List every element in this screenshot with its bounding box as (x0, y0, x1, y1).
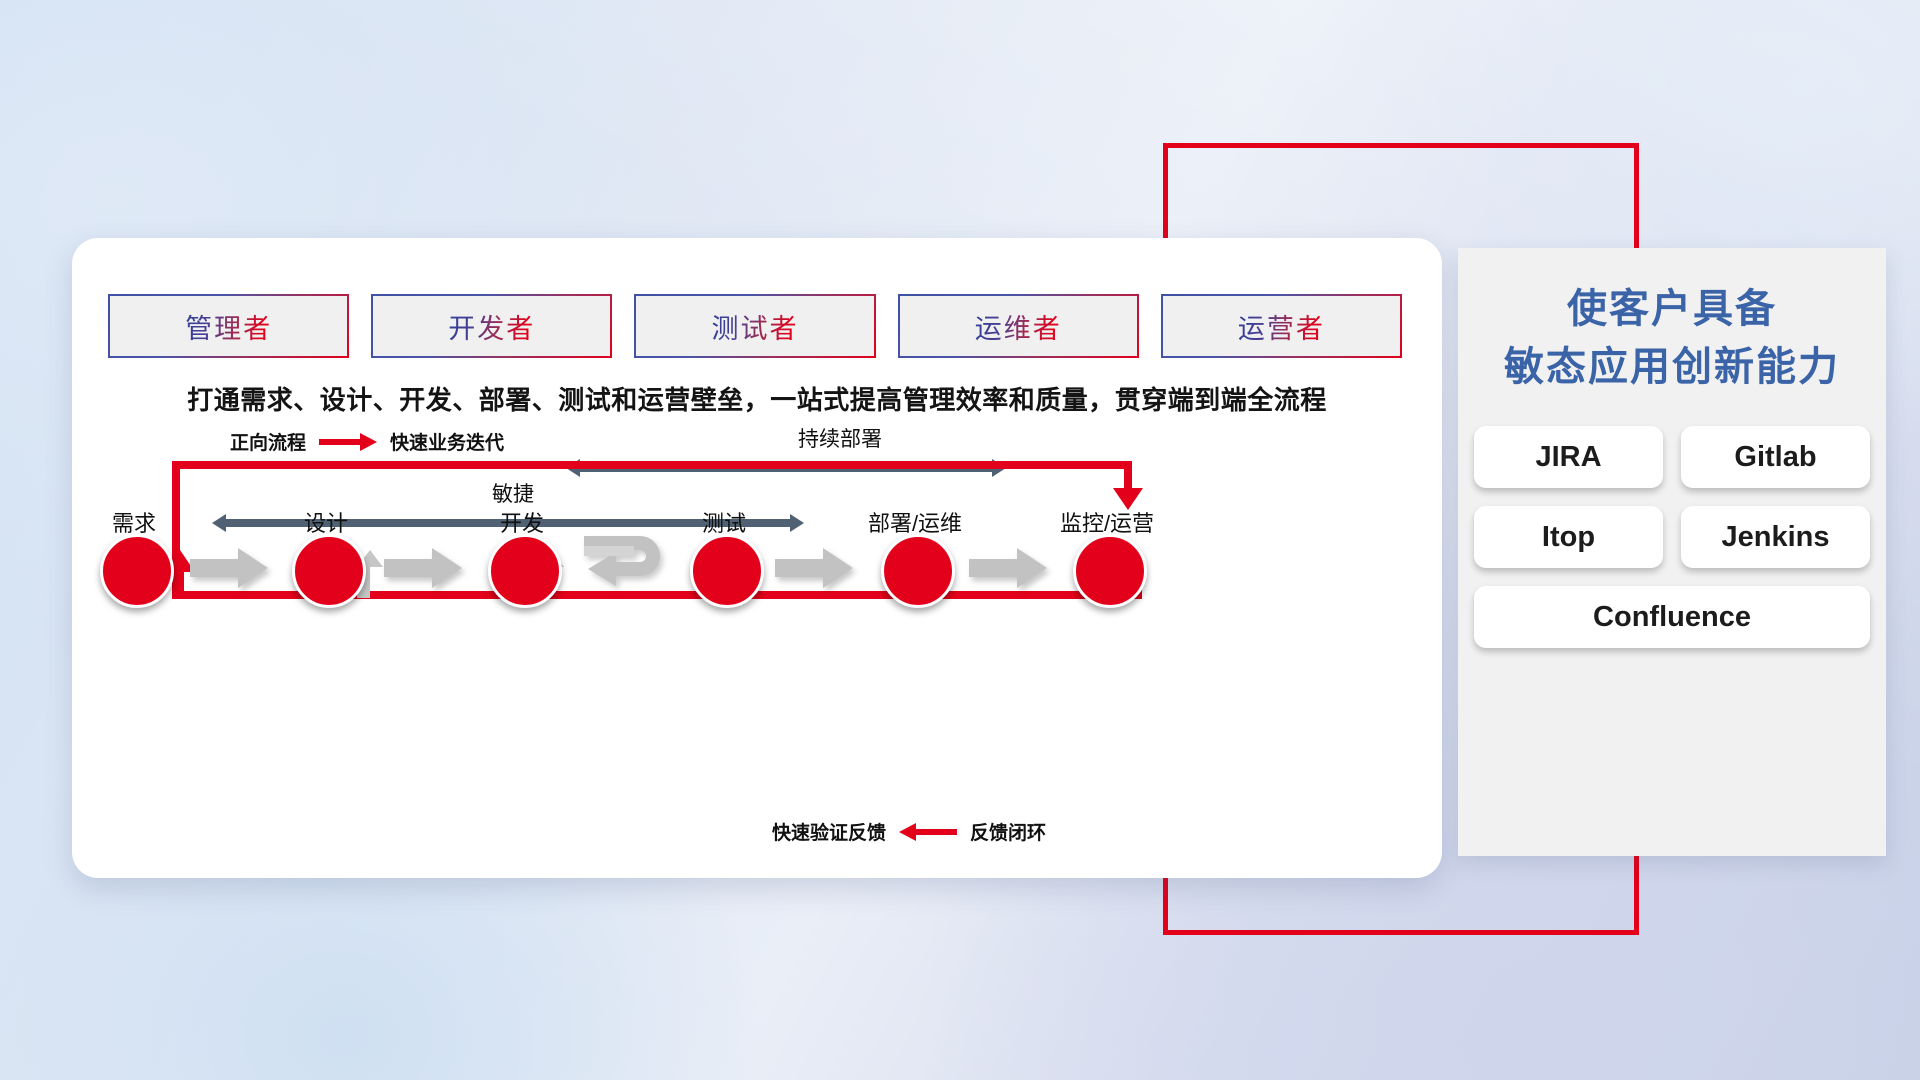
node-requirement[interactable] (100, 534, 174, 608)
panel-title: 使客户具备 敏态应用创新能力 (1458, 248, 1886, 396)
node-test[interactable] (690, 534, 764, 608)
node-deploy-ops[interactable] (881, 534, 955, 608)
legend-feedback-left-label: 快速验证反馈 (772, 818, 886, 845)
span-label-agile: 敏捷 (492, 478, 534, 508)
tool-chip-confluence[interactable]: Confluence (1474, 586, 1870, 648)
tool-chip-list: JIRA Gitlab Itop Jenkins Confluence (1458, 426, 1886, 648)
loop-back-icon (578, 532, 676, 599)
flow-arrow-icon (775, 546, 853, 590)
node-develop[interactable] (488, 534, 562, 608)
red-loop-left-riser (176, 570, 184, 598)
legend-forward-left-label: 正向流程 (230, 428, 306, 455)
legend-feedback-right-label: 反馈闭环 (970, 818, 1046, 845)
devops-card: 管理者 开发者 测试者 运维者 运营者 打通需求、设计、开发、部署、测试和运营壁… (72, 238, 1442, 878)
tool-chip-itop[interactable]: Itop (1474, 506, 1663, 568)
tool-chip-jenkins[interactable]: Jenkins (1681, 506, 1870, 568)
legend-feedback-loop: 快速验证反馈 反馈闭环 (772, 818, 1046, 845)
flow-arrow-icon (969, 546, 1047, 590)
panel-title-line2: 敏态应用创新能力 (1458, 338, 1886, 396)
node-design[interactable] (292, 534, 366, 608)
pipeline-diagram: 正向流程 快速业务迭代 快速验证反馈 反馈闭环 持续部署 敏捷 (72, 238, 1442, 878)
flow-arrow-icon (384, 546, 462, 590)
legend-forward-right-label: 快速业务迭代 (390, 428, 504, 455)
panel-title-line1: 使客户具备 (1458, 280, 1886, 338)
red-loop-top (172, 461, 1132, 469)
tool-chip-jira[interactable]: JIRA (1474, 426, 1663, 488)
legend-forward-flow: 正向流程 快速业务迭代 (230, 428, 504, 455)
tool-chip-gitlab[interactable]: Gitlab (1681, 426, 1870, 488)
flow-arrow-icon (190, 546, 268, 590)
span-label-continuous-deploy: 持续部署 (798, 423, 882, 453)
capability-panel: 使客户具备 敏态应用创新能力 JIRA Gitlab Itop Jenkins … (1458, 248, 1886, 856)
arrow-left-icon (899, 826, 957, 837)
node-monitor-operations[interactable] (1073, 534, 1147, 608)
arrow-right-icon (319, 436, 377, 447)
